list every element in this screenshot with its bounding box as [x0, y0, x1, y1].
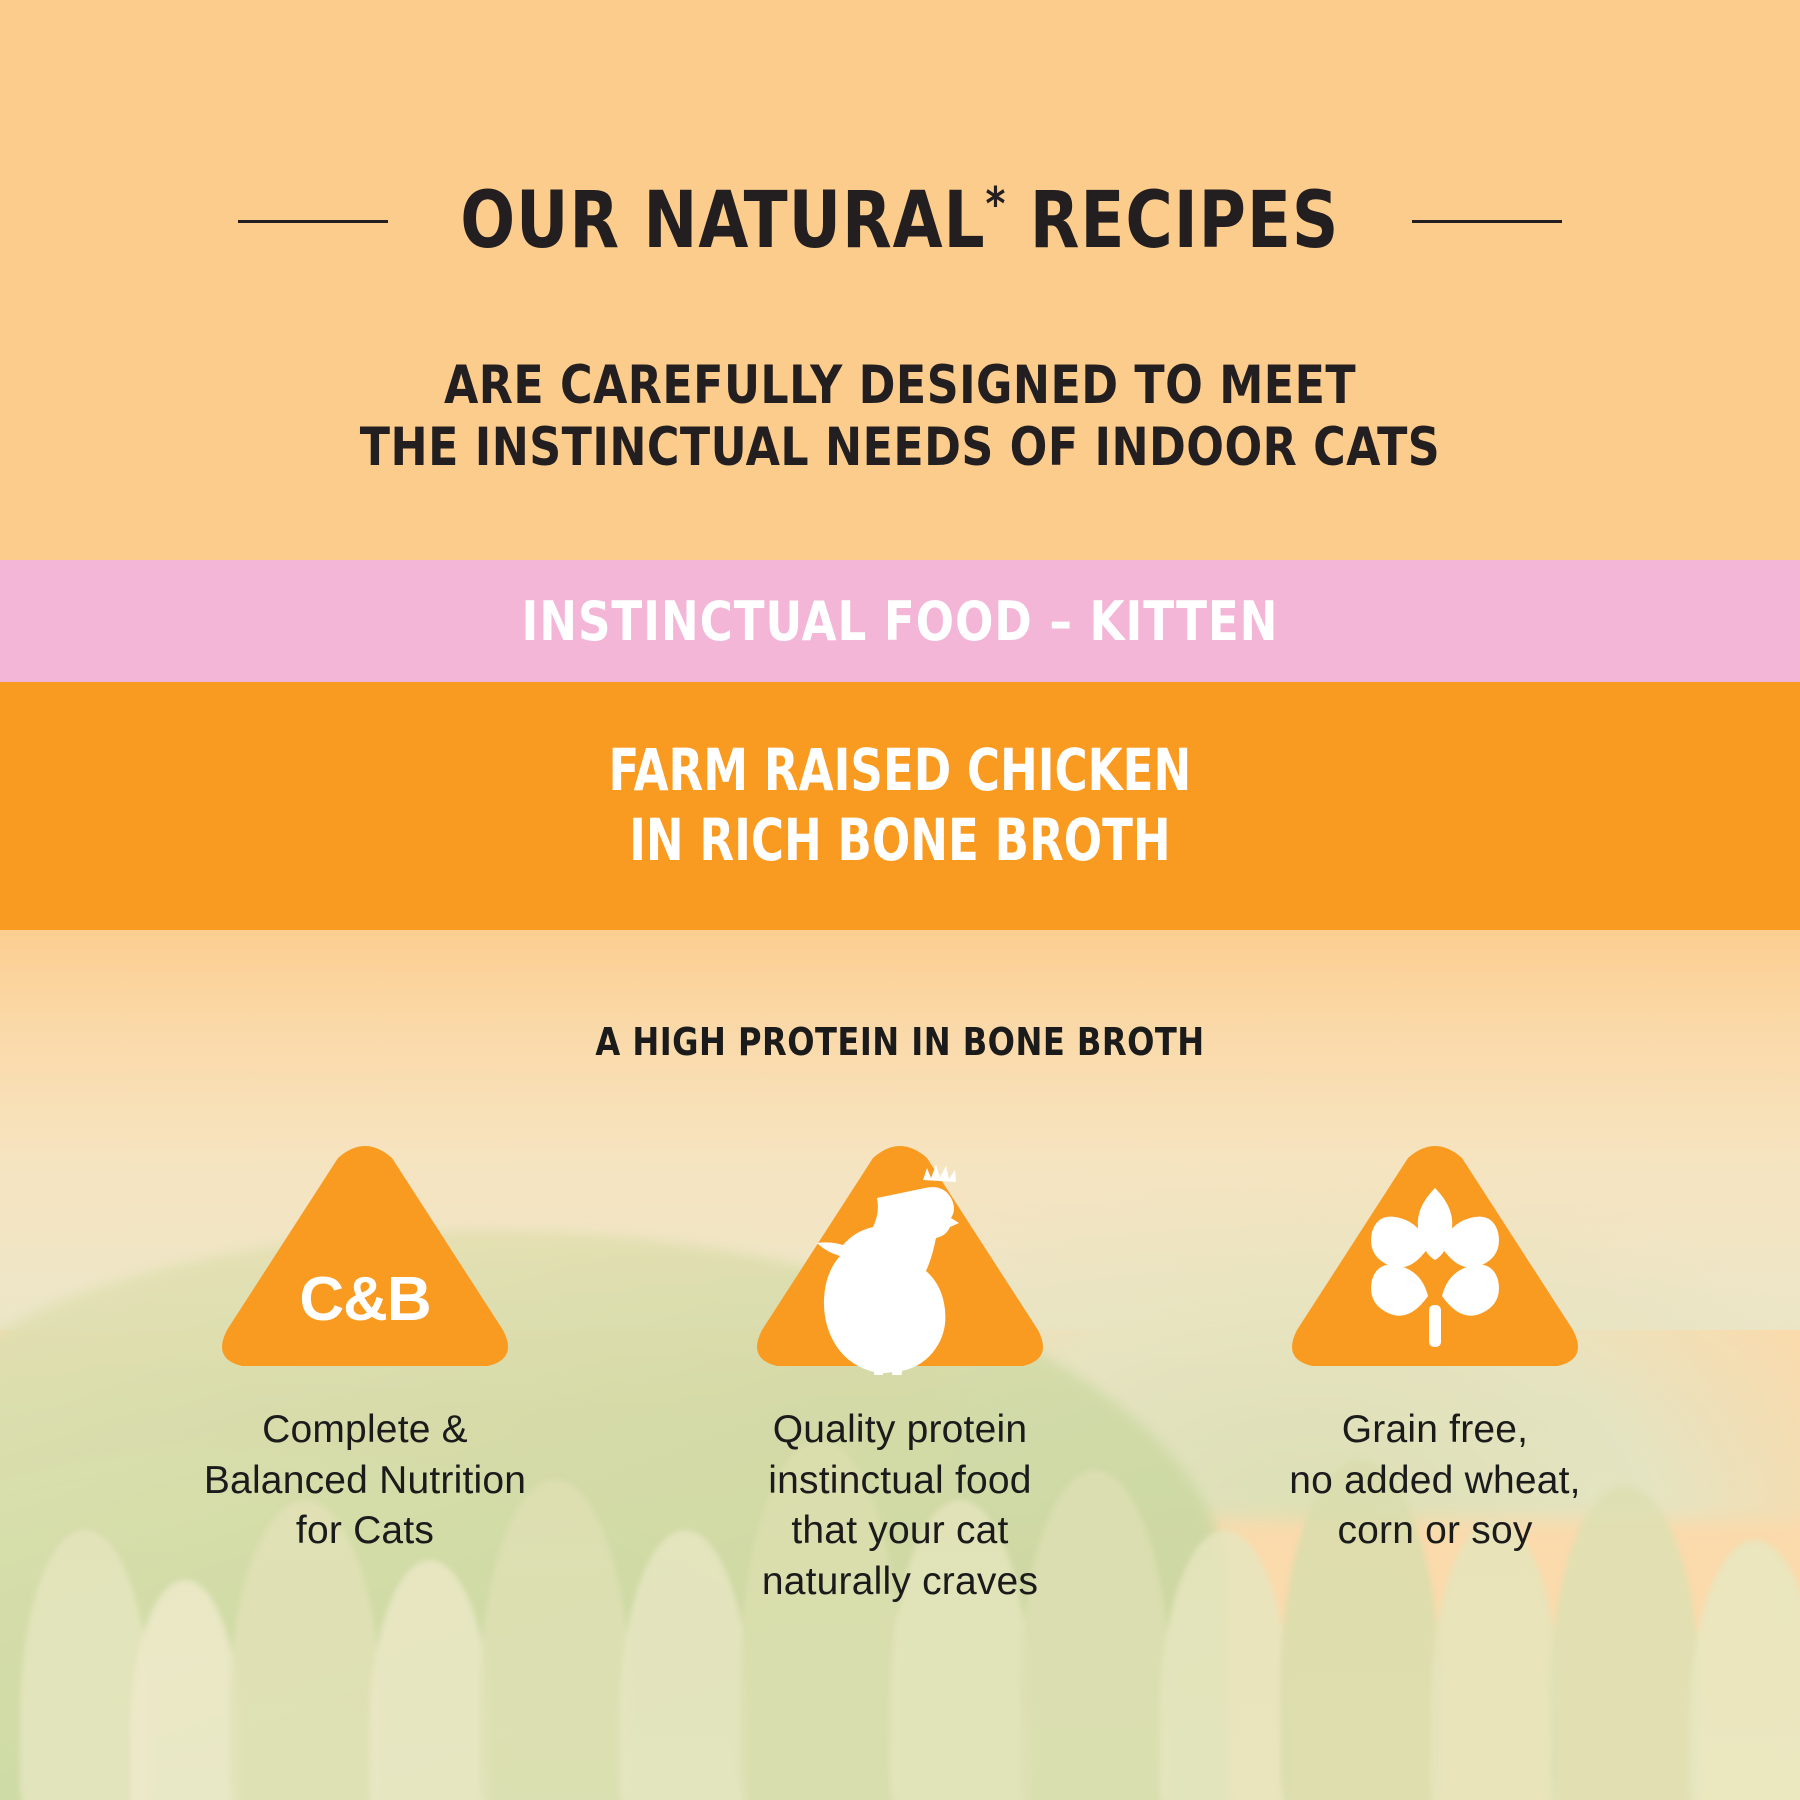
title-rule-right [1412, 220, 1562, 223]
caption-line: Balanced Nutrition [204, 1456, 526, 1507]
flavour-band: FARM RAISED CHICKEN IN RICH BONE BROTH [0, 682, 1800, 930]
caption-line: no added wheat, [1289, 1456, 1580, 1507]
grain-badge [1290, 1140, 1580, 1375]
c-and-b-badge-text: C&B [220, 1264, 510, 1335]
header-section: OUR NATURAL* RECIPES ARE CAREFULLY DESIG… [0, 0, 1800, 560]
page-title-row: OUR NATURAL* RECIPES [0, 182, 1800, 260]
caption-line: instinctual food [762, 1456, 1038, 1507]
subheading: ARE CAREFULLY DESIGNED TO MEET THE INSTI… [63, 355, 1737, 479]
feature-caption: Quality protein instinctual food that yo… [762, 1405, 1038, 1608]
caption-line: for Cats [204, 1506, 526, 1557]
feature-grain-free: Grain free, no added wheat, corn or soy [1263, 1140, 1608, 1557]
c-and-b-badge-icon: C&B [220, 1140, 510, 1375]
subheading-line-1: ARE CAREFULLY DESIGNED TO MEET [63, 355, 1737, 417]
flavour-label: FARM RAISED CHICKEN IN RICH BONE BROTH [587, 736, 1214, 875]
product-range-label: INSTINCTUAL FOOD – KITTEN [522, 590, 1279, 653]
title-rule-left [238, 220, 388, 223]
product-range-band: INSTINCTUAL FOOD – KITTEN [0, 560, 1800, 682]
protein-claim: A HIGH PROTEIN IN BONE BROTH [54, 1020, 1746, 1064]
feature-complete-balanced: C&B Complete & Balanced Nutrition for Ca… [193, 1140, 538, 1557]
caption-line: Complete & [204, 1405, 526, 1456]
caption-line: that your cat [762, 1506, 1038, 1557]
chicken-badge [755, 1140, 1045, 1375]
page-title-main: OUR NATURAL [460, 176, 985, 266]
caption-line: corn or soy [1289, 1506, 1580, 1557]
flavour-line-2: IN RICH BONE BROTH [609, 806, 1192, 876]
subheading-line-2: THE INSTINCTUAL NEEDS OF INDOOR CATS [63, 417, 1737, 479]
page-title: OUR NATURAL* RECIPES [460, 182, 1339, 260]
feature-list: C&B Complete & Balanced Nutrition for Ca… [0, 1140, 1800, 1608]
page-title-suffix: RECIPES [1030, 176, 1340, 266]
infographic-root: OUR NATURAL* RECIPES ARE CAREFULLY DESIG… [0, 0, 1800, 1800]
feature-quality-protein: Quality protein instinctual food that yo… [728, 1140, 1073, 1608]
feature-caption: Grain free, no added wheat, corn or soy [1289, 1405, 1580, 1557]
flavour-line-1: FARM RAISED CHICKEN [609, 736, 1192, 806]
caption-line: naturally craves [762, 1557, 1038, 1608]
feature-caption: Complete & Balanced Nutrition for Cats [204, 1405, 526, 1557]
asterisk-icon: * [986, 177, 1007, 231]
caption-line: Grain free, [1289, 1405, 1580, 1456]
caption-line: Quality protein [762, 1405, 1038, 1456]
